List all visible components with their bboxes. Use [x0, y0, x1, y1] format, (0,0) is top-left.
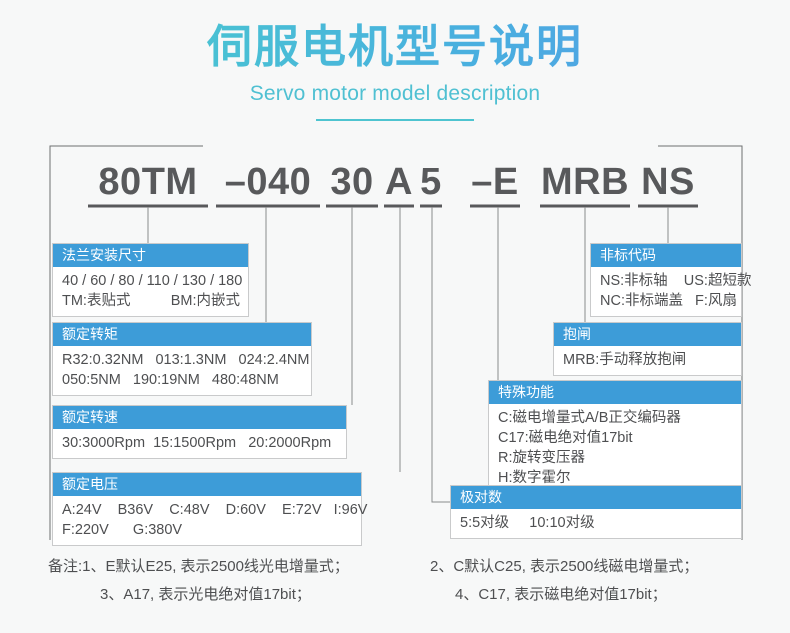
footer-note-2: 2、C默认C25, 表示2500线磁电增量式； [430, 556, 698, 578]
info-line: MRB:手动释放抱闸 [563, 350, 733, 370]
info-line: C17:磁电绝对值17bit [498, 428, 733, 448]
footer-note-4: 4、C17, 表示磁电绝对值17bit； [455, 584, 667, 606]
model-segment-torque: –040 [216, 158, 320, 206]
footer-note-1: 备注:1、E默认E25, 表示2500线光电增量式； [48, 556, 349, 578]
info-box-torque-title: 额定转矩 [53, 323, 311, 346]
info-box-brake: 抱闸 MRB:手动释放抱闸 [553, 322, 742, 376]
info-line: 30:3000Rpm 15:1500Rpm 20:2000Rpm [62, 433, 338, 453]
leader-poles [432, 207, 450, 502]
info-box-voltage: 额定电压 A:24V B36V C:48V D:60V E:72V I:96V … [52, 472, 362, 546]
info-line: A:24V B36V C:48V D:60V E:72V I:96V [62, 500, 353, 520]
info-box-nonstd-body: NS:非标轴 US:超短款 NC:非标端盖 F:风扇 [591, 267, 741, 316]
info-box-poles: 极对数 5:5对级 10:10对级 [450, 485, 742, 539]
info-box-flange-body: 40 / 60 / 80 / 110 / 130 / 180 TM:表贴式 BM… [53, 267, 248, 316]
info-line: R:旋转变压器 [498, 448, 733, 468]
info-box-speed-body: 30:3000Rpm 15:1500Rpm 20:2000Rpm [53, 429, 346, 458]
model-segment-nonstd: NS [638, 158, 698, 206]
info-box-nonstd: 非标代码 NS:非标轴 US:超短款 NC:非标端盖 F:风扇 [590, 243, 742, 317]
info-box-flange: 法兰安装尺寸 40 / 60 / 80 / 110 / 130 / 180 TM… [52, 243, 249, 317]
info-box-flange-title: 法兰安装尺寸 [53, 244, 248, 267]
info-box-torque: 额定转矩 R32:0.32NM 013:1.3NM 024:2.4NM 050:… [52, 322, 312, 396]
model-segment-flange: 80TM [88, 158, 208, 206]
info-line: C:磁电增量式A/B正交编码器 [498, 408, 733, 428]
info-box-nonstd-title: 非标代码 [591, 244, 741, 267]
footer-notes: 备注:1、E默认E25, 表示2500线光电增量式； 2、C默认C25, 表示2… [0, 550, 790, 630]
info-box-brake-title: 抱闸 [554, 323, 741, 346]
model-segment-poles: 5 [420, 158, 442, 206]
info-line: 050:5NM 190:19NM 480:48NM [62, 370, 303, 390]
info-box-special-title: 特殊功能 [489, 381, 741, 404]
info-line: F:220V G:380V [62, 520, 353, 540]
info-box-poles-body: 5:5对级 10:10对级 [451, 509, 741, 538]
info-box-special-body: C:磁电增量式A/B正交编码器 C17:磁电绝对值17bit R:旋转变压器 H… [489, 404, 741, 493]
info-line: TM:表贴式 BM:内嵌式 [62, 291, 240, 311]
info-line: NC:非标端盖 F:风扇 [600, 291, 733, 311]
model-segment-speed: 30 [326, 158, 378, 206]
info-box-brake-body: MRB:手动释放抱闸 [554, 346, 741, 375]
model-number-diagram: 80TM –040 30 A 5 –E MRB NS 法兰安装尺寸 40 / 6… [0, 0, 790, 633]
info-line: R32:0.32NM 013:1.3NM 024:2.4NM [62, 350, 303, 370]
info-box-special: 特殊功能 C:磁电增量式A/B正交编码器 C17:磁电绝对值17bit R:旋转… [488, 380, 742, 494]
model-code-row: 80TM –040 30 A 5 –E MRB NS [0, 158, 790, 210]
info-line: NS:非标轴 US:超短款 [600, 271, 733, 291]
info-box-torque-body: R32:0.32NM 013:1.3NM 024:2.4NM 050:5NM 1… [53, 346, 311, 395]
info-box-speed: 额定转速 30:3000Rpm 15:1500Rpm 20:2000Rpm [52, 405, 347, 459]
model-segment-special: –E [470, 158, 520, 206]
info-box-voltage-title: 额定电压 [53, 473, 361, 496]
info-box-speed-title: 额定转速 [53, 406, 346, 429]
model-segment-brake: MRB [540, 158, 630, 206]
info-line: 5:5对级 10:10对级 [460, 513, 733, 533]
info-box-voltage-body: A:24V B36V C:48V D:60V E:72V I:96V F:220… [53, 496, 361, 545]
footer-note-3: 3、A17, 表示光电绝对值17bit； [100, 584, 311, 606]
model-segment-voltage: A [384, 158, 414, 206]
info-box-poles-title: 极对数 [451, 486, 741, 509]
info-line: 40 / 60 / 80 / 110 / 130 / 180 [62, 271, 240, 291]
